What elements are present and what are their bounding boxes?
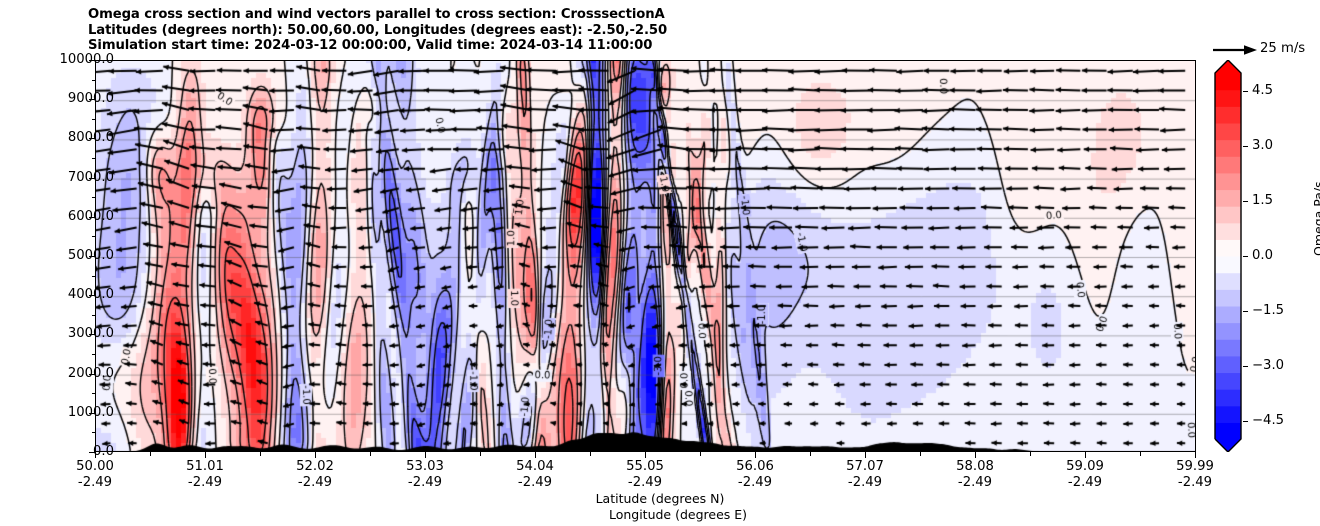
y-axis-minor-tick-mark <box>92 432 96 433</box>
colorbar-tick-mark <box>1243 146 1248 147</box>
y-axis-minor-tick-mark <box>92 197 96 198</box>
x-tick-latitude: 50.00 <box>76 459 114 475</box>
colorbar-tick-mark <box>1243 366 1248 367</box>
y-axis-tick-mark <box>89 178 95 179</box>
x-tick-longitude: -2.49 <box>1176 475 1214 491</box>
chart-title: Omega cross section and wind vectors par… <box>88 7 1188 54</box>
x-tick-longitude: -2.49 <box>846 475 884 491</box>
colorbar-tick-mark <box>1243 91 1248 92</box>
x-tick-latitude: 53.03 <box>406 459 444 475</box>
x-axis-tick-label: 55.05-2.49 <box>626 459 664 491</box>
colorbar-tick-label: 0.0 <box>1252 249 1273 262</box>
colorbar-band <box>1215 422 1241 439</box>
y-axis-tick-mark <box>89 99 95 100</box>
y-axis-label: Altitude (meters) <box>0 83 1 190</box>
x-tick-longitude: -2.49 <box>296 475 334 491</box>
x-tick-longitude: -2.49 <box>186 475 224 491</box>
colorbar-band <box>1215 189 1241 206</box>
title-line-2: Latitudes (degrees north): 50.00,60.00, … <box>88 23 1188 39</box>
x-tick-latitude: 51.01 <box>186 459 224 475</box>
colorbar-band <box>1215 223 1241 240</box>
colorbar-band <box>1215 306 1241 323</box>
y-axis-minor-tick-mark <box>92 236 96 237</box>
x-axis-tick-label: 53.03-2.49 <box>406 459 444 491</box>
colorbar-tick-mark <box>1243 256 1248 257</box>
y-axis-tick-mark <box>89 60 95 61</box>
colorbar-extend-max <box>1215 60 1241 73</box>
y-axis-tick-label: 10000.0 <box>59 53 114 66</box>
x-axis-tick-mark <box>865 452 866 458</box>
x-axis-minor-tick-mark <box>150 452 151 456</box>
x-axis-minor-tick-mark <box>480 452 481 456</box>
x-tick-latitude: 57.07 <box>846 459 884 475</box>
x-tick-longitude: -2.49 <box>1066 475 1104 491</box>
colorbar-band <box>1215 389 1241 406</box>
x-tick-latitude: 58.08 <box>956 459 994 475</box>
x-axis-tick-label: 59.09-2.49 <box>1066 459 1104 491</box>
x-tick-longitude: -2.49 <box>76 475 114 491</box>
colorbar-band <box>1215 256 1241 273</box>
x-axis-minor-tick-mark <box>920 452 921 456</box>
colorbar-tick-label: −3.0 <box>1252 359 1284 372</box>
colorbar-label: Omega Pa/s <box>1311 181 1320 256</box>
x-tick-longitude: -2.49 <box>956 475 994 491</box>
x-axis-minor-tick-mark <box>370 452 371 456</box>
quiver-key-label: 25 m/s <box>1260 41 1305 56</box>
y-axis-minor-tick-mark <box>92 393 96 394</box>
x-axis-minor-tick-mark <box>810 452 811 456</box>
x-tick-latitude: 56.06 <box>736 459 774 475</box>
x-axis-minor-tick-mark <box>1140 452 1141 456</box>
x-axis-label-longitude: Longitude (degrees E) <box>0 507 1320 522</box>
y-axis-tick-mark <box>89 138 95 139</box>
y-axis-minor-tick-mark <box>92 354 96 355</box>
quiver-key: 25 m/s <box>1213 40 1317 62</box>
x-axis-tick-mark <box>315 452 316 458</box>
y-axis-tick-mark <box>89 413 95 414</box>
y-axis-tick-mark <box>89 217 95 218</box>
colorbar-tick-mark <box>1243 421 1248 422</box>
colorbar-band <box>1215 90 1241 107</box>
colorbar-band <box>1215 73 1241 90</box>
x-axis-tick-label: 59.99-2.49 <box>1176 459 1214 491</box>
title-line-1: Omega cross section and wind vectors par… <box>88 7 1188 23</box>
colorbar-band <box>1215 239 1241 256</box>
y-axis-minor-tick-mark <box>92 158 96 159</box>
x-tick-longitude: -2.49 <box>516 475 554 491</box>
y-axis-tick-mark <box>89 256 95 257</box>
colorbar-tick-label: 4.5 <box>1252 84 1273 97</box>
x-axis-tick-label: 51.01-2.49 <box>186 459 224 491</box>
x-axis-tick-mark <box>1195 452 1196 458</box>
colorbar-band <box>1215 356 1241 373</box>
x-axis-tick-mark <box>535 452 536 458</box>
x-axis-tick-label: 54.04-2.49 <box>516 459 554 491</box>
y-axis-tick-label: 0.0 <box>93 445 114 458</box>
y-axis-tick-mark <box>89 334 95 335</box>
x-axis-tick-label: 56.06-2.49 <box>736 459 774 491</box>
x-tick-latitude: 59.09 <box>1066 459 1104 475</box>
x-axis-tick-mark <box>645 452 646 458</box>
y-axis-minor-tick-mark <box>92 276 96 277</box>
x-axis-tick-mark <box>1085 452 1086 458</box>
colorbar-band <box>1215 123 1241 140</box>
x-axis-minor-tick-mark <box>700 452 701 456</box>
x-axis-tick-label: 50.00-2.49 <box>76 459 114 491</box>
colorbar-band <box>1215 173 1241 190</box>
omega-cross-section-plot <box>96 61 1196 452</box>
x-axis-label-latitude: Latitude (degrees N) <box>0 491 1320 506</box>
x-tick-latitude: 55.05 <box>626 459 664 475</box>
x-axis-tick-mark <box>755 452 756 458</box>
x-axis-tick-mark <box>205 452 206 458</box>
x-axis-tick-label: 58.08-2.49 <box>956 459 994 491</box>
colorbar-band <box>1215 372 1241 389</box>
x-tick-longitude: -2.49 <box>626 475 664 491</box>
x-tick-longitude: -2.49 <box>736 475 774 491</box>
x-tick-longitude: -2.49 <box>406 475 444 491</box>
colorbar-band <box>1215 156 1241 173</box>
colorbar <box>1213 60 1243 452</box>
x-tick-latitude: 52.02 <box>296 459 334 475</box>
colorbar-gradient <box>1213 60 1243 452</box>
title-line-3: Simulation start time: 2024-03-12 00:00:… <box>88 38 1188 54</box>
x-axis-tick-mark <box>95 452 96 458</box>
colorbar-band <box>1215 323 1241 340</box>
colorbar-band <box>1215 140 1241 157</box>
y-axis-minor-tick-mark <box>92 80 96 81</box>
plot-axes <box>95 60 1196 452</box>
colorbar-band <box>1215 273 1241 290</box>
colorbar-band <box>1215 406 1241 423</box>
x-tick-latitude: 54.04 <box>516 459 554 475</box>
x-axis-minor-tick-mark <box>1030 452 1031 456</box>
colorbar-tick-mark <box>1243 201 1248 202</box>
x-axis-tick-label: 57.07-2.49 <box>846 459 884 491</box>
colorbar-tick-mark <box>1243 311 1248 312</box>
y-axis-minor-tick-mark <box>92 119 96 120</box>
colorbar-tick-label: 3.0 <box>1252 139 1273 152</box>
x-axis-tick-mark <box>975 452 976 458</box>
x-axis-minor-tick-mark <box>590 452 591 456</box>
x-tick-latitude: 59.99 <box>1176 459 1214 475</box>
colorbar-tick-label: −1.5 <box>1252 304 1284 317</box>
colorbar-extend-min <box>1215 439 1241 452</box>
colorbar-band <box>1215 339 1241 356</box>
colorbar-tick-label: −4.5 <box>1252 414 1284 427</box>
x-axis-tick-mark <box>425 452 426 458</box>
colorbar-tick-label: 1.5 <box>1252 194 1273 207</box>
y-axis-tick-mark <box>89 295 95 296</box>
arrow-right-icon <box>1213 43 1257 57</box>
x-axis-tick-label: 52.02-2.49 <box>296 459 334 491</box>
figure-canvas: Omega cross section and wind vectors par… <box>0 0 1320 526</box>
x-axis-minor-tick-mark <box>260 452 261 456</box>
y-axis-minor-tick-mark <box>92 315 96 316</box>
colorbar-band <box>1215 106 1241 123</box>
colorbar-band <box>1215 206 1241 223</box>
colorbar-band <box>1215 289 1241 306</box>
y-axis-tick-mark <box>89 374 95 375</box>
